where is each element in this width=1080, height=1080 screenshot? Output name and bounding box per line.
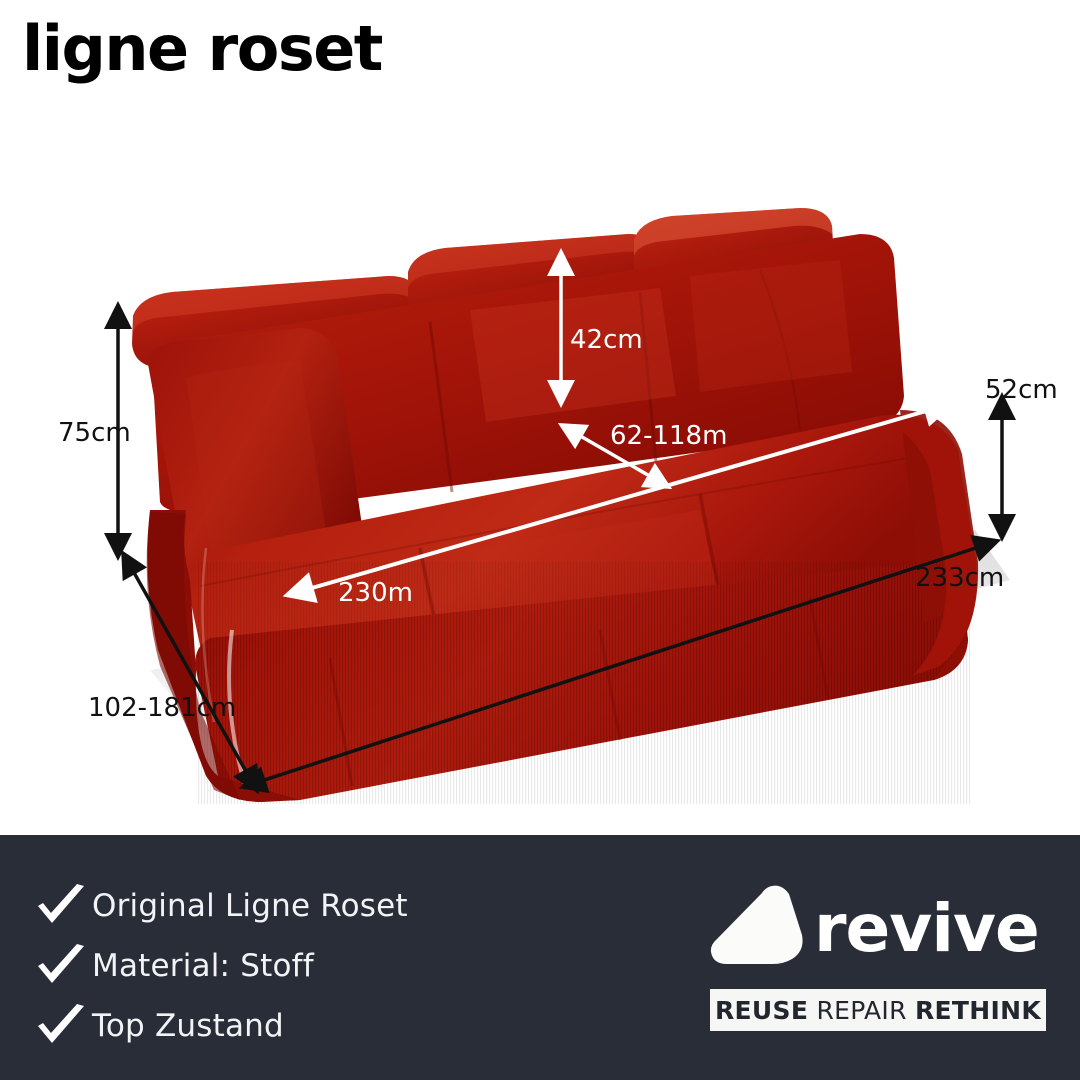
claim-label: Material: Stoff [92, 948, 314, 984]
claim-item: Original Ligne Roset [30, 879, 630, 933]
revive-logo: revive REUSE REPAIR RETHINK [710, 883, 1050, 1031]
tagline-word-reuse: REUSE [715, 996, 808, 1025]
tagline-word-repair: REPAIR [816, 996, 906, 1025]
revive-shape-icon [710, 883, 806, 975]
claim-item: Top Zustand [30, 999, 630, 1053]
product-photo: 75cm 102-181cm 230m 42cm 62-118m 52cm 23… [0, 110, 1080, 835]
claims-list: Original Ligne Roset Material: Stoff Top… [30, 879, 630, 1059]
sofa-illustration [0, 110, 1080, 835]
claim-item: Material: Stoff [30, 939, 630, 993]
product-listing-image: ligne roset [0, 0, 1080, 1080]
revive-wordmark: revive [814, 896, 1039, 962]
brand-logo: ligne roset [22, 18, 382, 80]
check-icon [30, 1004, 92, 1048]
check-icon [30, 944, 92, 988]
tagline-word-rethink: RETHINK [915, 996, 1041, 1025]
revive-tagline: REUSE REPAIR RETHINK [710, 989, 1046, 1031]
check-icon [30, 884, 92, 928]
footer-bar: Original Ligne Roset Material: Stoff Top… [0, 835, 1080, 1080]
claim-label: Original Ligne Roset [92, 888, 408, 924]
claim-label: Top Zustand [92, 1008, 284, 1044]
